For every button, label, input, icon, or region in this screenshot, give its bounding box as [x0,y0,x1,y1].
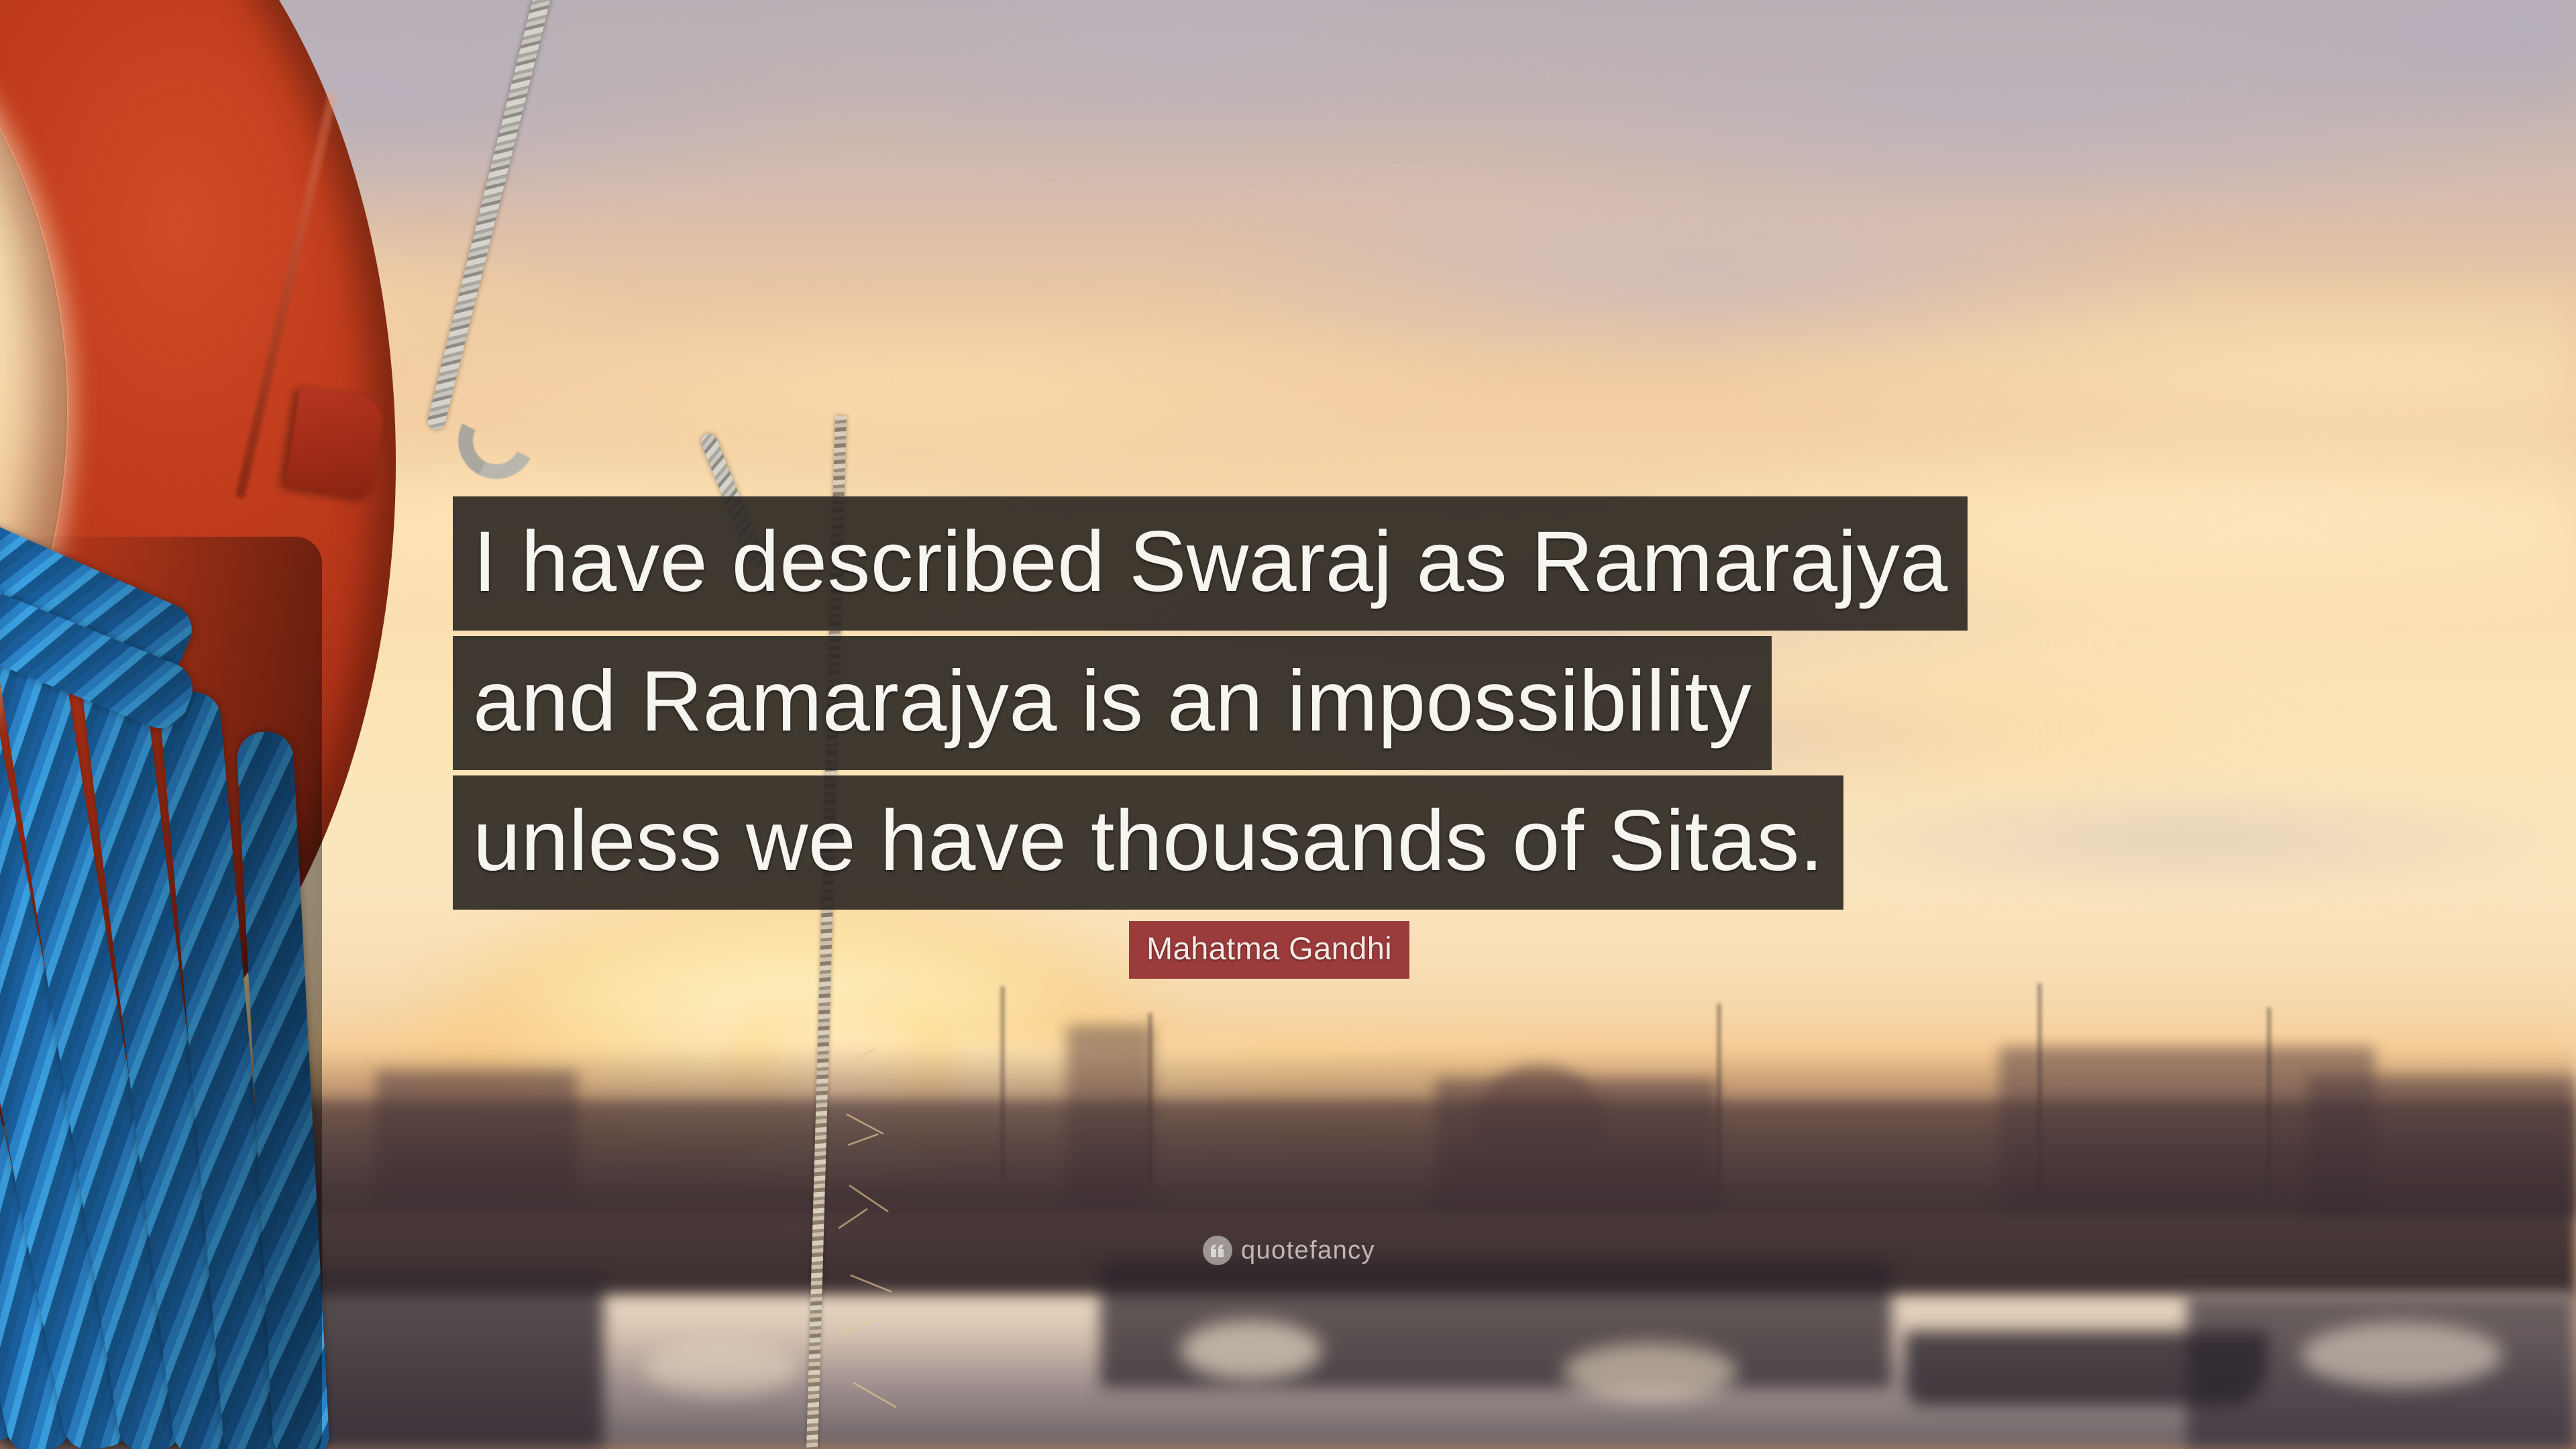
quote-poster: I have described Swaraj as Ramarajya and… [0,0,2576,1449]
quote-mark-icon [1203,1236,1232,1265]
boat-hull-silhouette [1905,1332,2267,1405]
water-highlight-1 [1181,1320,1322,1381]
quote-line-2: and Ramarajya is an impossibility [453,636,1772,770]
quote-block: I have described Swaraj as Ramarajya and… [453,496,2127,915]
blue-rope-shading [0,537,322,1449]
attribution: Mahatma Gandhi [1129,921,1409,979]
life-ring-tab [284,386,386,499]
quote-line-1: I have described Swaraj as Ramarajya [453,496,1968,631]
quotefancy-brand: quotefancy [1241,1238,1375,1263]
water-highlight-2 [1563,1343,1737,1401]
quote-line-3: unless we have thousands of Sitas. [453,775,1843,910]
quotefancy-watermark[interactable]: quotefancy [1203,1236,1375,1265]
author-name: Mahatma Gandhi [1129,921,1409,979]
water-highlight-4 [644,1342,798,1395]
water-highlight-3 [2301,1323,2502,1387]
